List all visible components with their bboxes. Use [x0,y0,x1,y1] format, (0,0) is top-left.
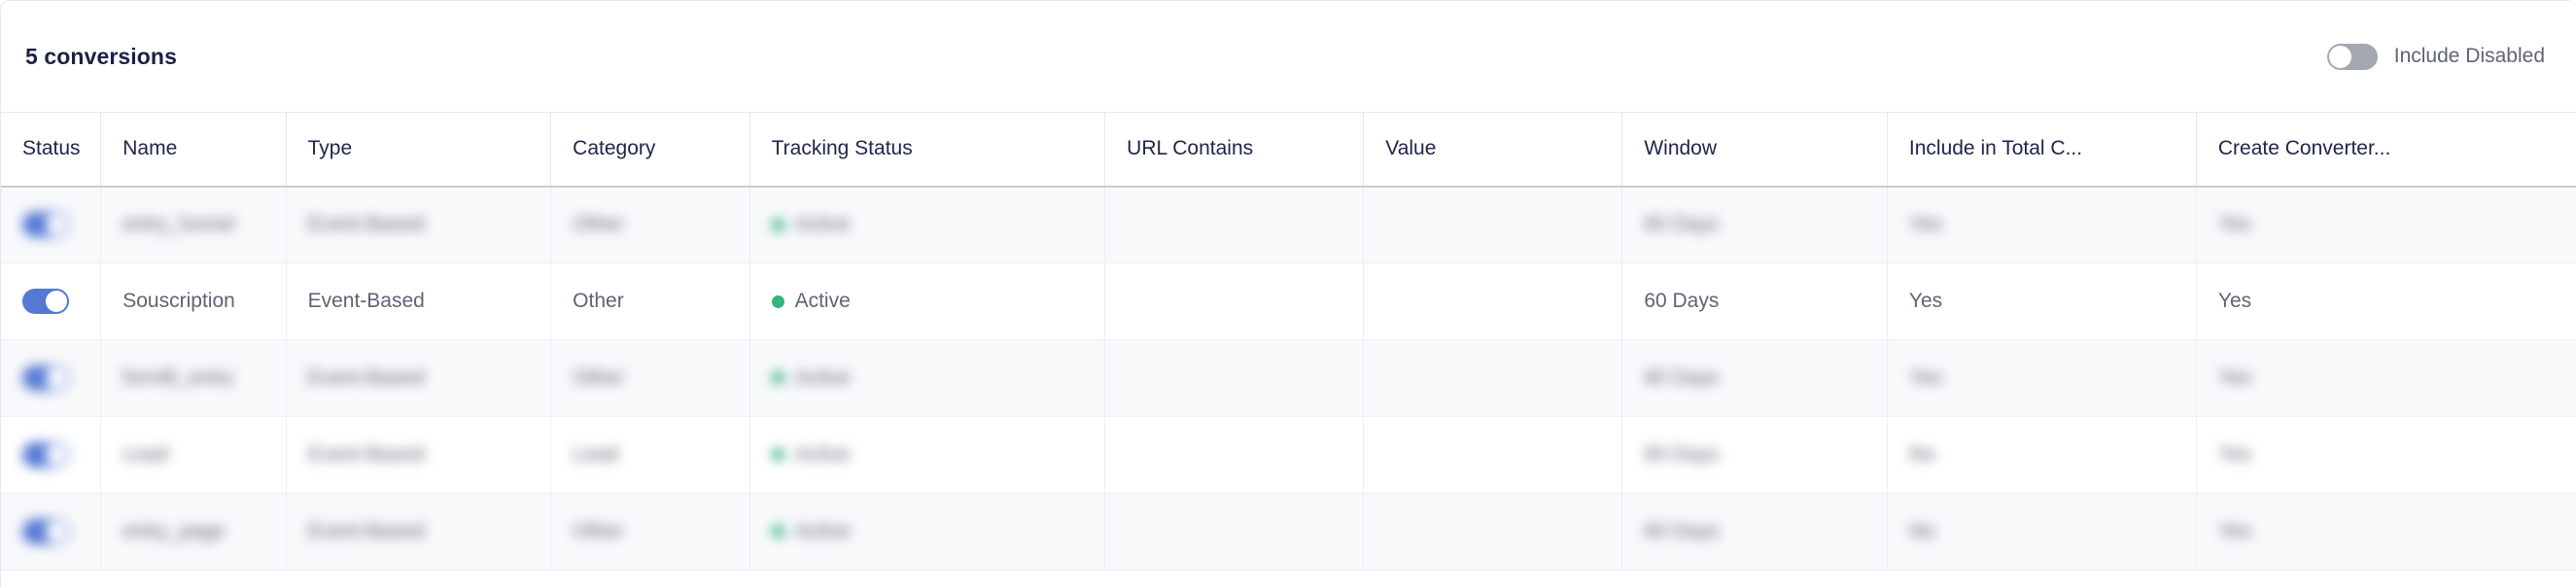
cell-include-in-total-text: Yes [1909,290,1942,312]
cell-type: Event-Based [286,340,551,417]
include-disabled-label: Include Disabled [2394,45,2545,68]
status-badge-inner: Active [772,443,851,466]
cell-window: 60 Days [1622,417,1888,494]
cell-window-text: 60 Days [1644,290,1719,312]
cell-category-text: Other [573,290,624,312]
column-header-include-in-total[interactable]: Include in Total C... [1887,113,2196,187]
cell-type-text: Event-Based [308,443,425,466]
cell-create-converter-text: Yes [2218,290,2251,312]
cell-window-text: 60 Days [1644,213,1719,236]
toggle-knob [46,521,67,542]
column-header-type[interactable]: Type [286,113,551,187]
cell-include-in-total: No [1887,494,2196,570]
cell-type: Event-Based [286,187,551,263]
page-title: 5 conversions [25,44,177,70]
status-badge: Active [772,290,1105,313]
toggle-knob [46,291,67,312]
cell-create-converter: Yes [2196,417,2576,494]
status-dot-icon [772,525,784,537]
status-badge: Active [772,366,851,390]
cell-status [1,417,101,494]
status-dot-icon [772,295,784,308]
cell-category-text: Other [573,366,624,390]
status-badge-inner: Active [772,520,851,543]
cell-name: entry_page [101,494,286,570]
cell-create-converter: Yes [2196,340,2576,417]
table-row[interactable]: entry_pageEvent-BasedOtherActive60 DaysN… [1,494,2576,570]
cell-category-text: Lead [573,443,618,466]
cell-tracking-status: Active [749,187,1105,263]
toggle-knob [46,444,67,466]
column-header-name[interactable]: Name [101,113,286,187]
column-header-tracking-status[interactable]: Tracking Status [749,113,1105,187]
status-dot-icon [772,371,784,384]
table-header: Status Name Type Category Tracking Statu… [1,113,2576,187]
status-badge-inner: Active [772,366,851,390]
cell-url-contains [1105,340,1364,417]
cell-status [1,494,101,570]
cell-name: Lead [101,417,286,494]
cell-type-text: Event-Based [308,290,425,312]
cell-tracking-status: Active [749,263,1105,340]
table-header-row: Status Name Type Category Tracking Statu… [1,113,2576,187]
cell-window: 60 Days [1622,494,1888,570]
cell-type-text: Event-Based [308,213,425,236]
tracking-status-text: Active [795,520,851,543]
cell-create-converter-text: Yes [2218,366,2251,390]
cell-include-in-total: No [1887,417,2196,494]
cell-create-converter-text: Yes [2218,520,2251,543]
cell-type: Event-Based [286,417,551,494]
cell-type-text: Event-Based [308,366,425,390]
cell-create-converter: Yes [2196,187,2576,263]
cell-value [1364,494,1622,570]
row-status-toggle[interactable] [22,289,69,314]
table-row[interactable]: entry_funnelEvent-BasedOtherActive60 Day… [1,187,2576,263]
cell-category: Lead [551,417,749,494]
table-row[interactable]: LeadEvent-BasedLeadActive60 DaysNoYes [1,417,2576,494]
cell-name-text: entry_page [122,520,225,543]
cell-create-converter: Yes [2196,263,2576,340]
cell-type-text: Event-Based [308,520,425,543]
status-badge-inner: Active [772,213,851,236]
cell-create-converter-text: Yes [2218,443,2251,466]
cell-window-text: 60 Days [1644,520,1719,543]
cell-tracking-status: Active [749,494,1105,570]
toggle-knob [2329,46,2351,68]
cell-category: Other [551,494,749,570]
column-header-status[interactable]: Status [1,113,101,187]
table-body: entry_funnelEvent-BasedOtherActive60 Day… [1,187,2576,570]
column-header-create-converter[interactable]: Create Converter... [2196,113,2576,187]
cell-include-in-total: Yes [1887,187,2196,263]
cell-tracking-status: Active [749,417,1105,494]
cell-category: Other [551,187,749,263]
cell-category: Other [551,340,749,417]
toggle-knob [46,214,67,235]
cell-value [1364,187,1622,263]
cell-tracking-status: Active [749,340,1105,417]
row-status-toggle[interactable] [22,365,69,391]
table-toolbar: 5 conversions Include Disabled [1,1,2576,112]
cell-include-in-total: Yes [1887,263,2196,340]
cell-window: 60 Days [1622,340,1888,417]
cell-url-contains [1105,417,1364,494]
conversions-table: Status Name Type Category Tracking Statu… [1,112,2576,570]
column-header-category[interactable]: Category [551,113,749,187]
tracking-status-text: Active [795,290,851,313]
cell-name-text: formB_entry [122,366,233,390]
cell-create-converter: Yes [2196,494,2576,570]
cell-url-contains [1105,187,1364,263]
cell-type: Event-Based [286,263,551,340]
cell-name-text: Lead [122,443,168,466]
cell-type: Event-Based [286,494,551,570]
include-disabled-toggle[interactable] [2327,44,2378,70]
status-badge: Active [772,213,851,236]
status-dot-icon [772,219,784,231]
cell-window: 60 Days [1622,263,1888,340]
row-status-toggle[interactable] [22,519,69,544]
cell-create-converter-text: Yes [2218,213,2251,236]
cell-status [1,340,101,417]
toggle-knob [46,367,67,389]
row-status-toggle[interactable] [22,442,69,467]
cell-include-in-total-text: No [1909,443,1935,466]
status-badge: Active [772,520,851,543]
cell-value [1364,340,1622,417]
column-header-window[interactable]: Window [1622,113,1888,187]
status-badge-inner: Active [772,290,1105,313]
tracking-status-text: Active [795,213,851,236]
cell-category: Other [551,263,749,340]
cell-value [1364,263,1622,340]
conversions-panel: 5 conversions Include Disabled Status Na… [0,0,2576,587]
tracking-status-text: Active [795,366,851,390]
cell-name: entry_funnel [101,187,286,263]
cell-window: 60 Days [1622,187,1888,263]
toolbar-actions: Include Disabled [2327,44,2545,70]
column-header-value[interactable]: Value [1364,113,1622,187]
cell-include-in-total-text: Yes [1909,213,1942,236]
cell-include-in-total: Yes [1887,340,2196,417]
cell-status [1,187,101,263]
cell-include-in-total-text: Yes [1909,366,1942,390]
status-badge: Active [772,443,851,466]
cell-value [1364,417,1622,494]
table-row[interactable]: formB_entryEvent-BasedOtherActive60 Days… [1,340,2576,417]
cell-url-contains [1105,263,1364,340]
cell-name: Souscription [101,263,286,340]
tracking-status-text: Active [795,443,851,466]
cell-window-text: 60 Days [1644,366,1719,390]
column-header-url-contains[interactable]: URL Contains [1105,113,1364,187]
table-row[interactable]: SouscriptionEvent-BasedOtherActive60 Day… [1,263,2576,340]
cell-name-text: Souscription [122,290,235,312]
cell-window-text: 60 Days [1644,443,1719,466]
cell-category-text: Other [573,213,624,236]
cell-name: formB_entry [101,340,286,417]
cell-url-contains [1105,494,1364,570]
cell-include-in-total-text: No [1909,520,1935,543]
row-status-toggle[interactable] [22,212,69,237]
cell-status [1,263,101,340]
status-dot-icon [772,448,784,461]
cell-name-text: entry_funnel [122,213,235,236]
cell-category-text: Other [573,520,624,543]
